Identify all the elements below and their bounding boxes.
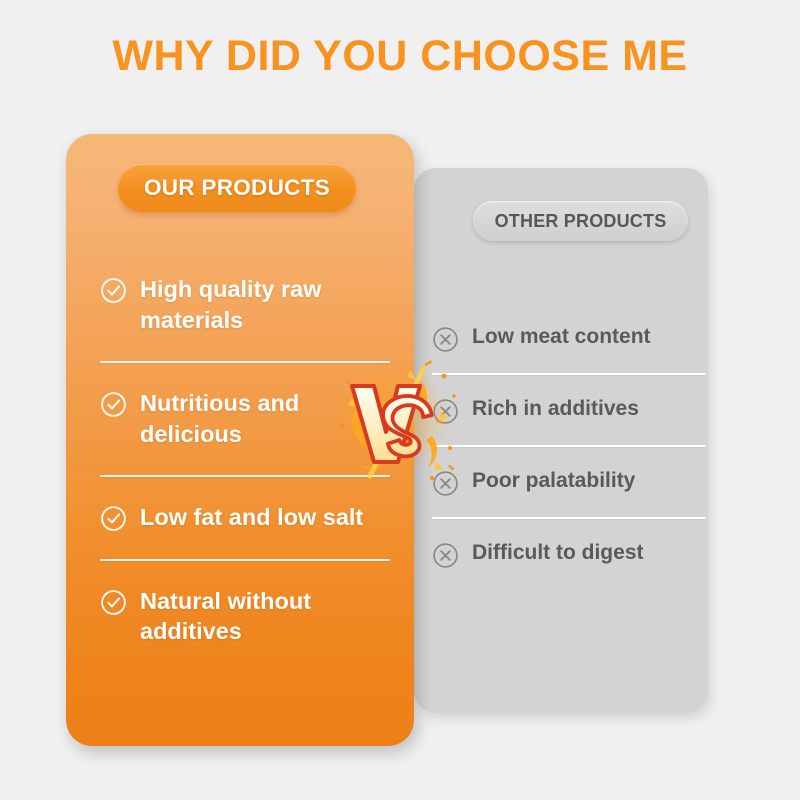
page-title: WHY DID YOU CHOOSE ME: [0, 32, 800, 81]
spacer: [432, 425, 706, 445]
x-circle-icon: [432, 326, 459, 353]
list-item-label: Low meat content: [472, 323, 651, 350]
check-circle-icon: [100, 589, 127, 616]
spacer: [432, 353, 706, 373]
spacer: [100, 449, 390, 475]
x-circle-icon: [432, 398, 459, 425]
other-products-badge-label: OTHER PRODUCTS: [495, 211, 667, 232]
spacer: [100, 477, 390, 502]
other-products-list: Low meat content Rich in additives: [432, 323, 706, 569]
spacer: [100, 363, 390, 388]
list-item-label: Natural without additives: [140, 586, 390, 647]
our-products-badge: OUR PRODUCTS: [118, 164, 356, 212]
spacer: [432, 519, 706, 539]
list-item-label: Low fat and low salt: [140, 502, 363, 533]
spacer: [432, 375, 706, 395]
list-item-label: High quality raw materials: [140, 274, 390, 335]
spacer: [100, 561, 390, 586]
spacer: [100, 335, 390, 361]
other-products-panel: OTHER PRODUCTS Low meat content Rich in: [414, 168, 708, 713]
list-item: High quality raw materials: [100, 274, 390, 335]
list-item-label: Difficult to digest: [472, 539, 644, 566]
spacer: [432, 497, 706, 517]
list-item-label: Nutritious and delicious: [140, 388, 390, 449]
list-item: Low meat content: [432, 323, 706, 353]
x-circle-icon: [432, 542, 459, 569]
other-products-badge: OTHER PRODUCTS: [473, 201, 688, 241]
check-circle-icon: [100, 391, 127, 418]
check-circle-icon: [100, 277, 127, 304]
our-products-badge-label: OUR PRODUCTS: [144, 175, 330, 201]
list-item: Nutritious and delicious: [100, 388, 390, 449]
our-products-panel: OUR PRODUCTS High quality raw materials: [66, 134, 414, 746]
spacer: [432, 447, 706, 467]
x-circle-icon: [432, 470, 459, 497]
list-item: Difficult to digest: [432, 539, 706, 569]
list-item: Low fat and low salt: [100, 502, 390, 533]
spacer: [100, 533, 390, 559]
list-item: Natural without additives: [100, 586, 390, 647]
check-circle-icon: [100, 505, 127, 532]
list-item: Rich in additives: [432, 395, 706, 425]
our-products-list: High quality raw materials Nutritious an…: [100, 274, 390, 647]
list-item-label: Rich in additives: [472, 395, 639, 422]
list-item: Poor palatability: [432, 467, 706, 497]
list-item-label: Poor palatability: [472, 467, 635, 494]
